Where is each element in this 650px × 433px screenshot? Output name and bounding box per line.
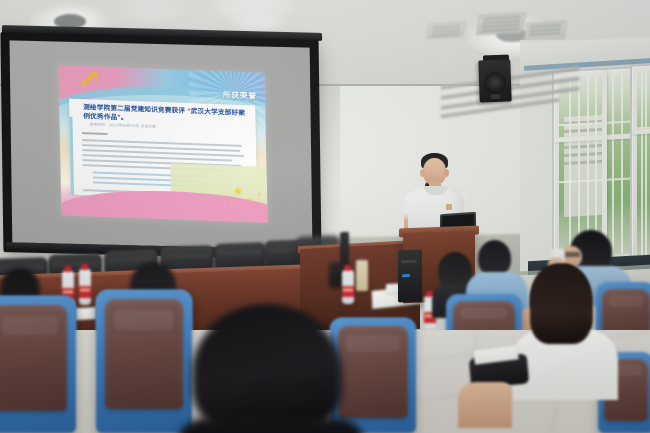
equipment-rack	[398, 250, 422, 303]
tea-glass	[356, 263, 368, 291]
projected-slide: 所获荣誉 测绘学院第二届党建知识竞赛获评 “武汉大学支部好案例优秀作品”。 发布…	[58, 65, 267, 223]
auditorium-seat[interactable]	[330, 318, 416, 433]
presenter-ear	[444, 169, 449, 177]
wall-speaker-icon	[478, 59, 511, 102]
ac-vent	[523, 21, 566, 41]
auditorium-seat[interactable]	[0, 296, 76, 433]
screen-surface: 所获荣誉 测绘学院第二届党建知识竞赛获评 “武汉大学支部好案例优秀作品”。 发布…	[10, 40, 313, 249]
water-bottle	[342, 270, 354, 304]
document-accent-bar	[69, 117, 74, 195]
auditorium-seat[interactable]	[96, 290, 192, 433]
audience-leg	[458, 382, 512, 428]
audience-head	[530, 264, 592, 344]
classroom-photo: 所获荣誉 测绘学院第二届党建知识竞赛获评 “武汉大学支部好案例优秀作品”。 发布…	[0, 0, 650, 433]
star-icon: ★	[233, 187, 243, 198]
ac-vent	[476, 13, 526, 35]
water-bottle	[79, 269, 91, 305]
presenter-ear	[420, 169, 425, 177]
slide-section-badge: 所获荣誉	[223, 89, 257, 101]
star-icon: ★	[230, 201, 234, 205]
audience-head	[478, 240, 511, 276]
foreground-person-head	[192, 306, 342, 433]
star-icon: ★	[248, 198, 254, 204]
window	[630, 63, 650, 266]
star-icon: ★	[257, 192, 261, 196]
shirt-logo	[446, 204, 452, 210]
party-emblem-icon	[80, 69, 100, 87]
ac-vent	[426, 22, 465, 39]
projection-screen[interactable]: 所获荣誉 测绘学院第二届党建知识竞赛获评 “武汉大学支部好案例优秀作品”。 发布…	[0, 32, 321, 260]
foreground-person-shoulders	[176, 418, 366, 433]
